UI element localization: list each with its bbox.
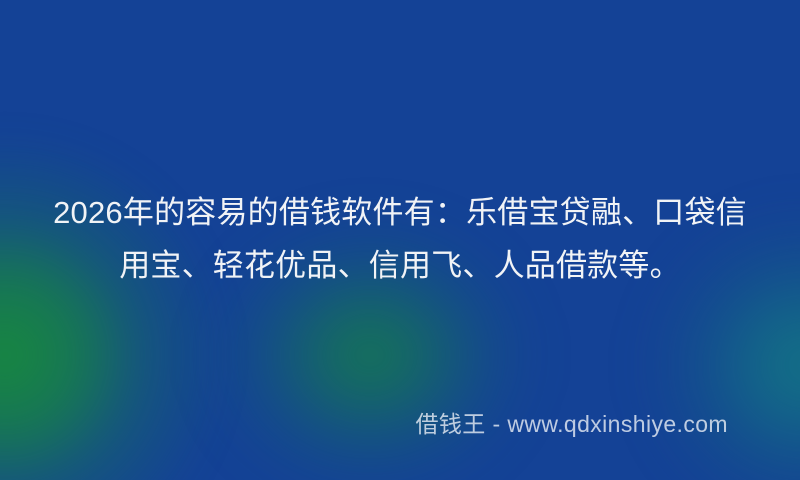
promo-banner: 2026年的容易的借钱软件有：乐借宝贷融、口袋信用宝、轻花优品、信用飞、人品借款…: [0, 0, 800, 480]
site-watermark: 借钱王 - www.qdxinshiye.com: [415, 410, 728, 438]
headline-text: 2026年的容易的借钱软件有：乐借宝贷融、口袋信用宝、轻花优品、信用飞、人品借款…: [50, 186, 750, 292]
